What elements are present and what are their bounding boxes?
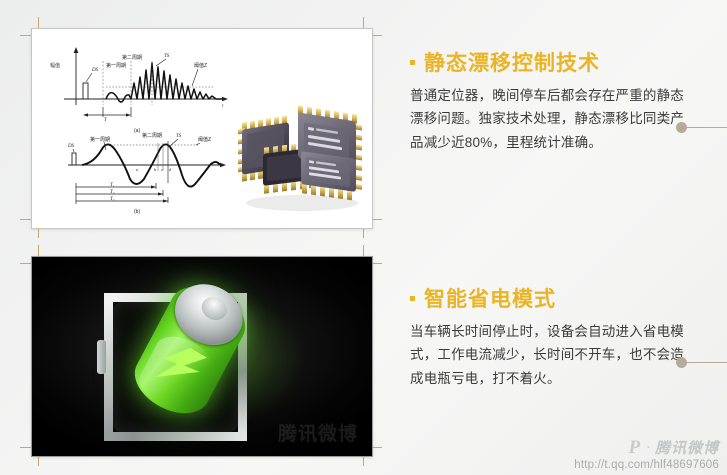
waveform-svg: 幅值 t DS 第二周期 第一周期 TS 阈值Z bbox=[46, 37, 236, 221]
watermark: P ◔ 腾讯微博 http://t.qq.com/hlf48697606 bbox=[574, 437, 719, 471]
watermark-url: http://t.qq.com/hlf48697606 bbox=[574, 459, 719, 471]
svg-text:c: c bbox=[161, 167, 163, 172]
svg-text:DS: DS bbox=[91, 68, 99, 73]
svg-text:DS: DS bbox=[67, 144, 75, 149]
svg-text:T₂: T₂ bbox=[110, 190, 115, 195]
svg-text:T₃: T₃ bbox=[110, 197, 115, 202]
feature-image-waveform: 幅值 t DS 第二周期 第一周期 TS 阈值Z bbox=[31, 28, 373, 229]
svg-text:阈值Z: 阈值Z bbox=[198, 136, 211, 143]
svg-text:阈值Z: 阈值Z bbox=[194, 62, 207, 69]
feature-heading-power-saving: 智能省电模式 bbox=[410, 288, 700, 311]
svg-text:第二周期: 第二周期 bbox=[142, 132, 162, 139]
watermark-logo-sup: ◔ bbox=[645, 443, 650, 452]
svg-text:TS: TS bbox=[164, 54, 170, 59]
svg-text:b: b bbox=[154, 167, 156, 172]
feature-heading-label: 智能省电模式 bbox=[424, 288, 556, 311]
battery-image-watermark: 腾讯微博 bbox=[278, 419, 358, 446]
waveform-figure: 幅值 t DS 第二周期 第一周期 TS 阈值Z bbox=[46, 37, 236, 221]
svg-text:(b): (b) bbox=[134, 209, 140, 215]
connector-static-drift bbox=[676, 122, 727, 133]
svg-text:T: T bbox=[104, 118, 108, 123]
watermark-brand-row: P ◔ 腾讯微博 bbox=[574, 437, 719, 458]
connector-power-saving bbox=[676, 357, 727, 368]
svg-text:d: d bbox=[169, 167, 172, 172]
svg-text:t: t bbox=[222, 104, 224, 109]
bullet-square-icon bbox=[410, 60, 415, 65]
svg-text:a: a bbox=[136, 167, 138, 172]
svg-text:(a): (a) bbox=[134, 128, 140, 134]
poster-stage: 幅值 t DS 第二周期 第一周期 TS 阈值Z bbox=[0, 0, 727, 475]
feature-text-static-drift: 静态漂移控制技术 普通定位器，晚间停车后都会存在严重的静态漂移问题。独家技术处理… bbox=[410, 52, 700, 154]
feature-heading-label: 静态漂移控制技术 bbox=[424, 52, 600, 75]
watermark-brand-name: 腾讯微博 bbox=[655, 437, 719, 458]
feature-image-battery: 腾讯微博 bbox=[31, 256, 373, 457]
svg-text:第二周期: 第二周期 bbox=[122, 54, 142, 61]
connector-line bbox=[686, 362, 727, 363]
svg-text:TS: TS bbox=[176, 134, 182, 139]
chip-photo-svg bbox=[238, 91, 366, 213]
tencent-weibo-logo-icon: P bbox=[629, 438, 641, 457]
battery-terminal bbox=[198, 293, 231, 325]
chip-photo bbox=[238, 91, 366, 213]
svg-text:第一周期: 第一周期 bbox=[106, 62, 126, 69]
bullet-square-icon bbox=[410, 296, 415, 301]
feature-body-static-drift: 普通定位器，晚间停车后都会存在严重的静态漂移问题。独家技术处理，静态漂移比同类产… bbox=[410, 84, 685, 154]
svg-text:幅值: 幅值 bbox=[50, 62, 60, 69]
feature-text-power-saving: 智能省电模式 当车辆长时间停止时，设备会自动进入省电模式，工作电流减少，长时间不… bbox=[410, 288, 700, 390]
connector-line bbox=[686, 127, 727, 128]
feature-body-power-saving: 当车辆长时间停止时，设备会自动进入省电模式，工作电流减少，长时间不开车，也不会造… bbox=[410, 320, 685, 390]
feature-heading-static-drift: 静态漂移控制技术 bbox=[410, 52, 700, 75]
svg-text:T₁: T₁ bbox=[110, 183, 115, 188]
svg-text:第一周期: 第一周期 bbox=[90, 136, 110, 143]
